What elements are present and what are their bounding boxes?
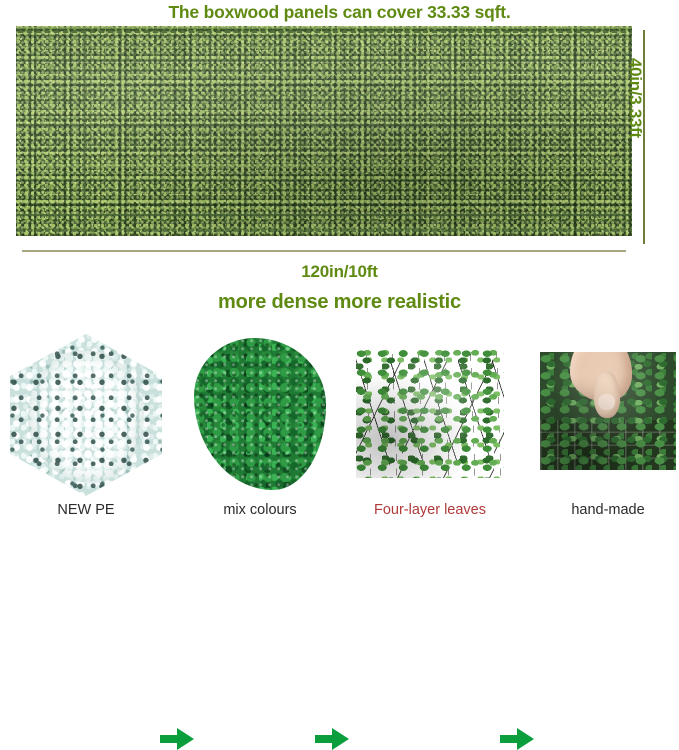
- process-step-caption: hand-made: [528, 502, 679, 518]
- process-step-caption: mix colours: [180, 502, 340, 518]
- boxwood-foliage-texture: [16, 26, 632, 236]
- sprig-shading: [356, 348, 504, 478]
- arrow-right-icon: [315, 728, 349, 750]
- process-step-mix-colours: mix colours: [180, 330, 340, 541]
- page-title: The boxwood panels can cover 33.33 sqft.: [0, 0, 679, 24]
- hand-assembly-photo: [528, 330, 679, 500]
- pe-pellets-hexagon-image: [6, 330, 166, 500]
- green-pellet-heap-image: [180, 330, 340, 500]
- arrow-right-icon: [160, 728, 194, 750]
- process-step-caption: Four-layer leaves: [350, 502, 510, 518]
- arrow-right-icon: [500, 728, 534, 750]
- leaf-sprigs-image: [350, 330, 510, 500]
- process-row: NEW PE mix colours Four-layer leaves: [0, 330, 679, 541]
- photo-frame: [540, 352, 676, 470]
- arrow-head: [332, 728, 349, 750]
- process-step-new-pe: NEW PE: [6, 330, 166, 541]
- arrow-head: [517, 728, 534, 750]
- pellet-shadows: [10, 334, 162, 496]
- tagline: more dense more realistic: [0, 291, 679, 317]
- arrow-head: [177, 728, 194, 750]
- process-step-caption: NEW PE: [6, 502, 166, 518]
- process-step-four-layer-leaves: Four-layer leaves: [350, 330, 510, 541]
- height-dimension-label: 40in/3.33ft: [623, 58, 645, 218]
- photo-shading: [540, 352, 676, 470]
- leaf-sprig-cluster: [356, 348, 504, 478]
- width-measure-line: [22, 250, 626, 252]
- foliage-layer-shading: [16, 26, 632, 236]
- boxwood-panel-image: [16, 26, 632, 236]
- width-dimension-label: 120in/10ft: [0, 262, 679, 286]
- green-pellet-pile: [194, 338, 326, 490]
- hexagon-shape: [10, 334, 162, 496]
- process-step-hand-made: hand-made: [528, 330, 679, 541]
